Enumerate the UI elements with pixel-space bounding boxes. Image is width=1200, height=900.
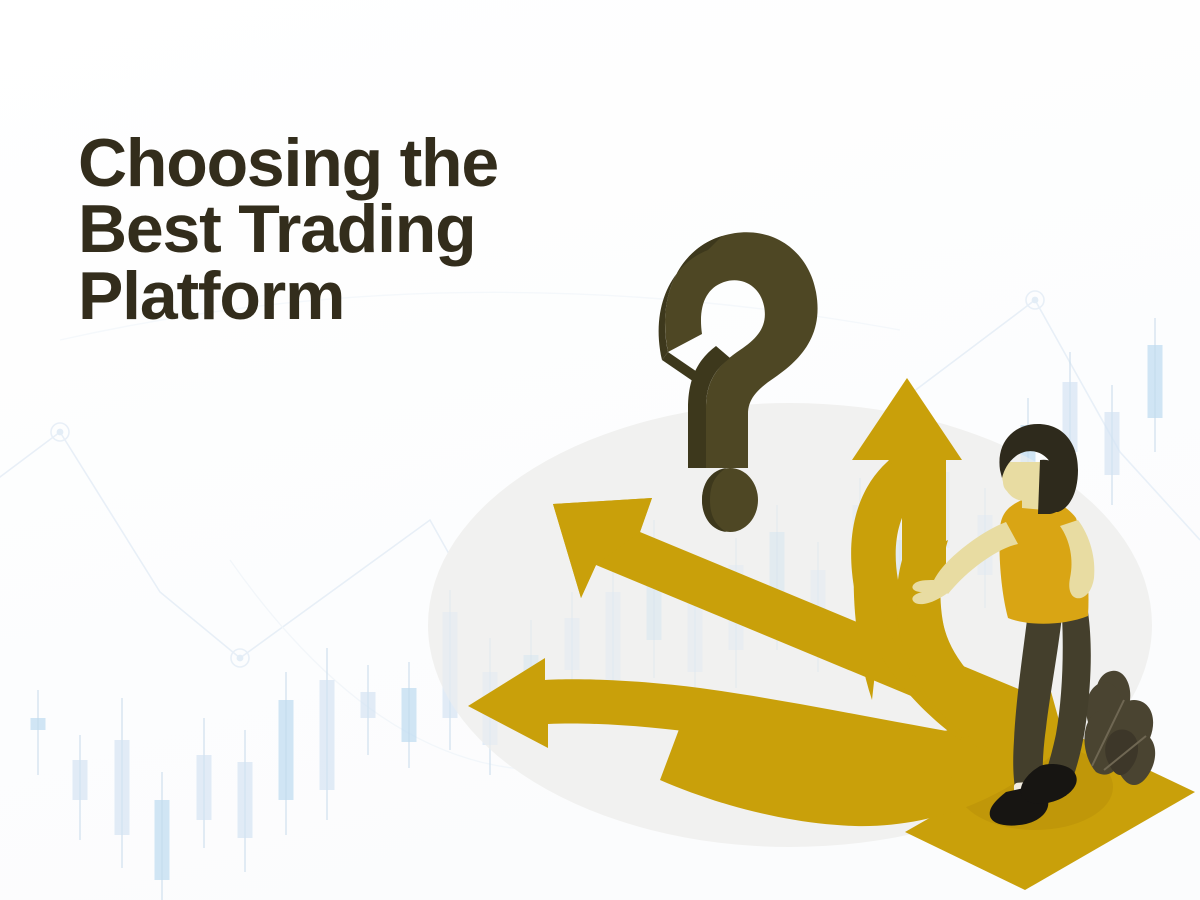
poster-canvas: Choosing the Best Trading Platform	[0, 0, 1200, 900]
candle-body	[155, 800, 170, 880]
candle-body	[279, 700, 294, 800]
candle-body	[197, 755, 212, 820]
candle-body	[1148, 345, 1163, 418]
candle-body	[361, 692, 376, 718]
plant-icon	[1084, 671, 1155, 785]
candle-body	[73, 760, 88, 800]
candle-body	[238, 762, 253, 838]
candle-body	[443, 612, 458, 718]
candle-body	[31, 718, 46, 730]
candle-body	[1105, 412, 1120, 475]
candle-body	[402, 688, 417, 742]
candle-body	[565, 618, 580, 670]
candle-body	[115, 740, 130, 835]
candle-body	[320, 680, 335, 790]
candle-body	[688, 600, 703, 672]
page-title: Choosing the Best Trading Platform	[78, 130, 598, 330]
candle-body	[606, 592, 621, 680]
person-ear	[1003, 471, 1021, 493]
